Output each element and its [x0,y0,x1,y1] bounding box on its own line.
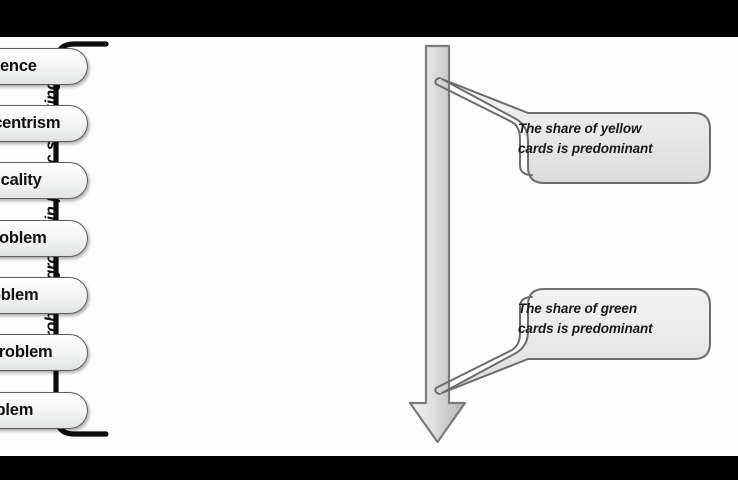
pill-egocentrism[interactable]: Egocentrism [0,105,88,142]
pill-label: Incompetence [0,57,37,76]
problem-pill-list: Incompetence Egocentrism Illogicality Co… [0,37,420,456]
letterbox-bar-bottom [0,456,738,480]
pill-illogicality[interactable]: Illogicality [0,162,88,199]
callout-line-1: The share of yellow [518,119,708,139]
figure-canvas: Problem groups in public speaking Incomp… [0,0,738,480]
pill-incompetence[interactable]: Incompetence [0,48,88,85]
pill-label: Self-control problem [0,401,33,420]
pill-label: Contact problem [0,229,47,248]
pill-label: Egocentrism [0,114,60,133]
pill-label: Self-expression problem [0,286,38,305]
diagram-stage: Problem groups in public speaking Incomp… [0,37,738,456]
pill-label: Getting out of contact problem [0,343,53,362]
callout-line-2: cards is predominant [518,139,708,159]
pill-self-expression-problem[interactable]: Self-expression problem [0,277,88,314]
callout-yellow-cards-text: The share of yellow cards is predominant [518,119,708,159]
pill-self-control-problem[interactable]: Self-control problem [0,392,88,429]
pill-getting-out-of-contact-problem[interactable]: Getting out of contact problem [0,334,88,371]
callout-line-1: The share of green [518,299,708,319]
callout-line-2: cards is predominant [518,319,708,339]
pill-label: Illogicality [0,171,42,190]
letterbox-bar-top [0,0,738,37]
callout-green-cards-text: The share of green cards is predominant [518,299,708,339]
pill-contact-problem[interactable]: Contact problem [0,220,88,257]
